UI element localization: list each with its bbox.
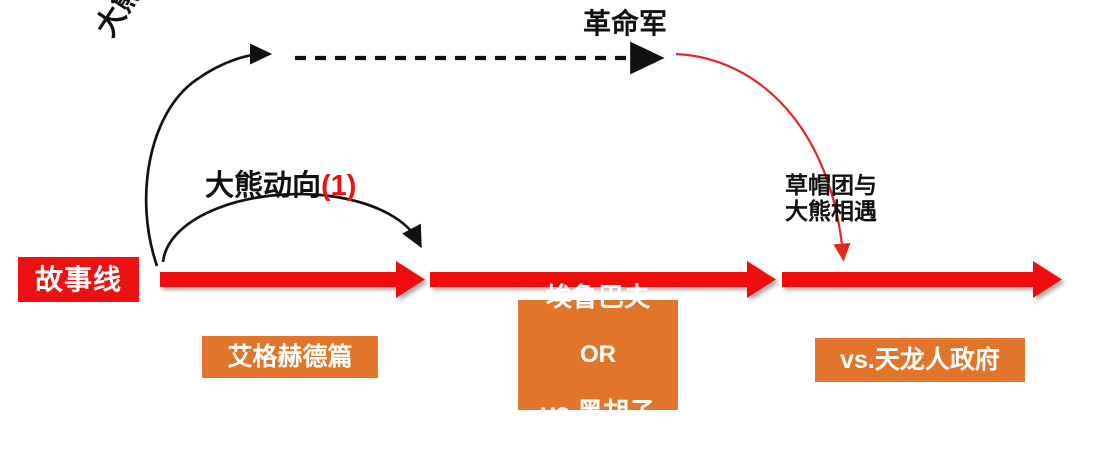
kuma-curve-1 bbox=[163, 194, 418, 262]
story-line-box: 故事线 bbox=[18, 257, 139, 302]
arc-3-box: vs.天龙人政府 bbox=[815, 338, 1025, 382]
arc-2-label-line2: OR bbox=[541, 342, 655, 369]
timeline-arrow-1 bbox=[160, 261, 425, 298]
arc-2-box: 埃鲁巴夫 OR vs.黑胡子 bbox=[518, 300, 678, 410]
arc-2-lines: 埃鲁巴夫 OR vs.黑胡子 bbox=[541, 254, 655, 456]
arc-2-label-line1: 埃鲁巴夫 bbox=[541, 283, 655, 312]
story-line-label: 故事线 bbox=[35, 264, 122, 295]
arc-1-box: 艾格赫德篇 bbox=[202, 336, 378, 378]
meet-kuma-label: 草帽团与 大熊相遇 bbox=[785, 172, 877, 225]
kuma-move-1-index: (1) bbox=[321, 170, 356, 202]
arc-2-label-line3: vs.黑胡子 bbox=[541, 398, 655, 427]
kuma-move-1-text: 大熊动向 bbox=[205, 170, 321, 202]
revolutionary-army-label: 革命军 bbox=[583, 8, 667, 40]
arc-1-label: 艾格赫德篇 bbox=[227, 343, 352, 371]
kuma-move-1-label: 大熊动向(1) bbox=[205, 137, 356, 204]
arc-3-label: vs.天龙人政府 bbox=[840, 346, 1000, 374]
diagram-canvas: 故事线 艾格赫德篇 埃鲁巴夫 OR vs.黑胡子 vs.天龙人政府 大熊动向(1… bbox=[0, 0, 1097, 429]
timeline-arrow-3 bbox=[782, 261, 1062, 298]
